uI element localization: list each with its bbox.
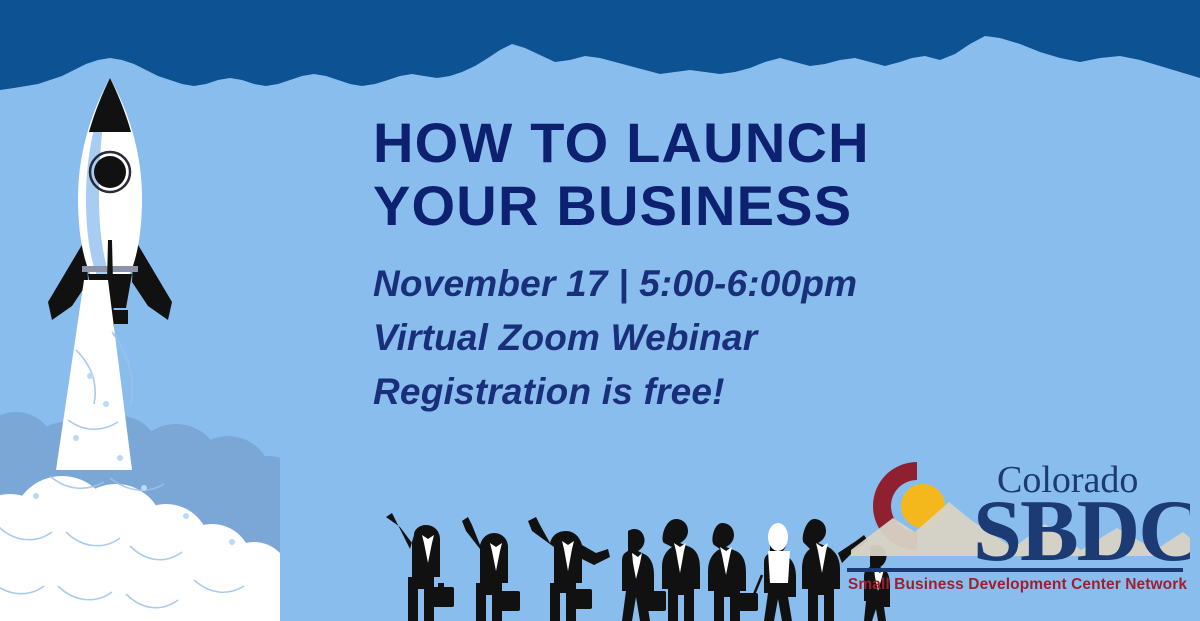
event-details: November 17 | 5:00-6:00pm Virtual Zoom W… bbox=[373, 257, 1013, 418]
rocket-exhaust-smoke bbox=[0, 280, 280, 621]
event-datetime: November 17 | 5:00-6:00pm bbox=[373, 257, 1013, 311]
business-people-silhouettes bbox=[370, 491, 890, 621]
logo-sbdc-word: SBDC bbox=[973, 483, 1190, 570]
event-registration-note: Registration is free! bbox=[373, 365, 1013, 419]
logo-mark: Colorado SBDC bbox=[845, 452, 1190, 570]
copy-block: HOW TO LAUNCH YOUR BUSINESS November 17 … bbox=[373, 112, 1013, 418]
headline-line-1: HOW TO LAUNCH bbox=[373, 111, 870, 174]
logo-tagline: Small Business Development Center Networ… bbox=[845, 576, 1190, 594]
promo-poster: HOW TO LAUNCH YOUR BUSINESS November 17 … bbox=[0, 0, 1200, 621]
colorado-sbdc-logo: Colorado SBDC Small Business Development… bbox=[845, 452, 1190, 602]
headline-line-2: YOUR BUSINESS bbox=[373, 175, 1013, 238]
logo-divider bbox=[847, 568, 1183, 572]
event-format: Virtual Zoom Webinar bbox=[373, 311, 1013, 365]
page-title: HOW TO LAUNCH YOUR BUSINESS bbox=[373, 112, 1013, 237]
